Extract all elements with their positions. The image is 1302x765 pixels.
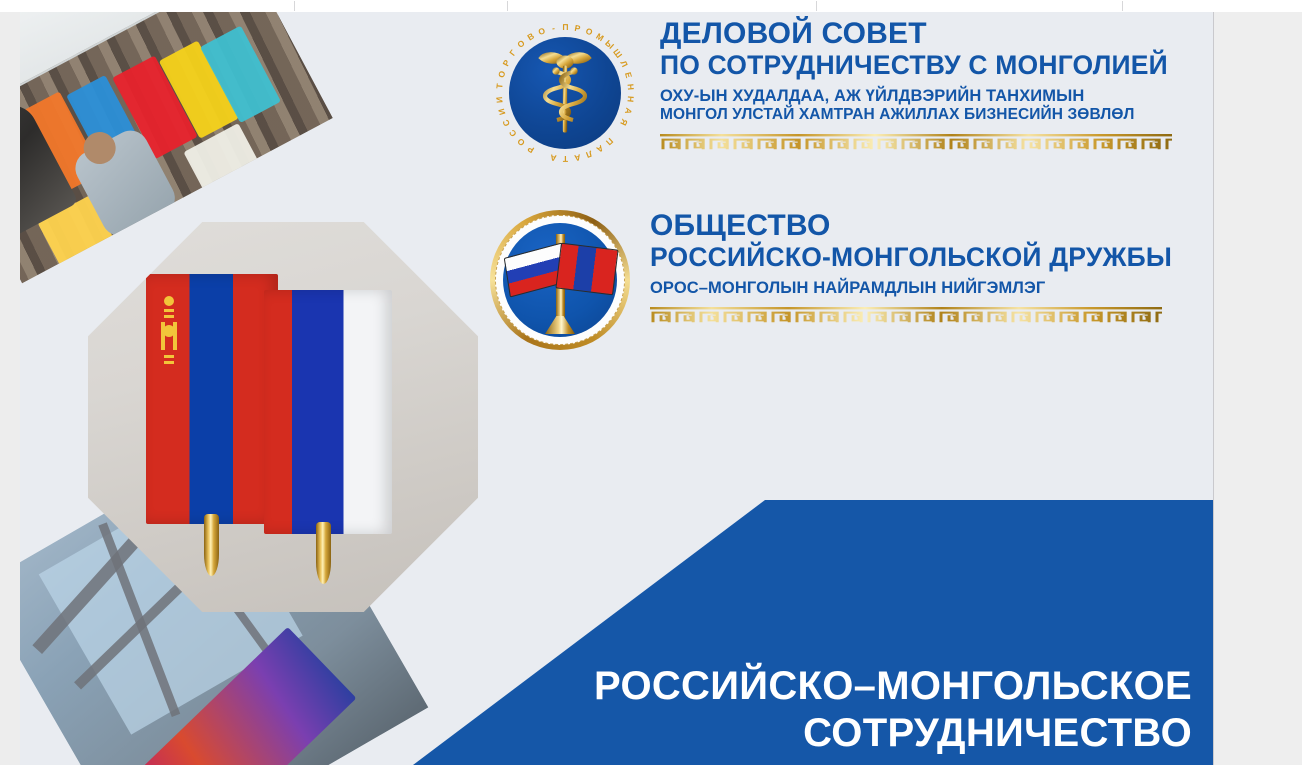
tab-separator (816, 1, 817, 11)
title-line-2: СОТРУДНИЧЕСТВО (594, 710, 1192, 757)
friendship-society-heading: ОБЩЕСТВО РОССИЙСКО-МОНГОЛЬСКОЙ ДРУЖБЫ ОР… (630, 210, 1190, 324)
crossed-flags-emblem-icon (490, 210, 630, 350)
canvas-left-gutter (0, 12, 20, 765)
chamber-of-commerce-logo-row: ТОРГОВО-ПРОМЫШЛЕННАЯПАЛАТАРОССИИ (490, 18, 1190, 168)
greek-key-ornament (660, 134, 1172, 151)
slide-title-banner: РОССИЙСКО–МОНГОЛЬСКОЕ СОТРУДНИЧЕСТВО (413, 500, 1213, 765)
slide-right-edge (1213, 12, 1214, 765)
organisation-logos-block: ТОРГОВО-ПРОМЫШЛЕННАЯПАЛАТАРОССИИ (490, 12, 1190, 350)
soyombo-symbol-icon (155, 289, 183, 373)
heading-line-2: РОССИЙСКО-МОНГОЛЬСКОЙ ДРУЖБЫ (650, 243, 1190, 272)
friendship-society-logo-row: ОБЩЕСТВО РОССИЙСКО-МОНГОЛЬСКОЙ ДРУЖБЫ ОР… (490, 210, 1190, 350)
caduceus-icon (537, 50, 593, 136)
greek-key-ornament (650, 307, 1162, 324)
tab-separator (507, 1, 508, 11)
heading-line-1: ДЕЛОВОЙ СОВЕТ (660, 18, 1190, 50)
mongolian-flag-icon (555, 243, 618, 296)
browser-tab-strip[interactable] (0, 0, 1302, 12)
heading-line-4: МОНГОЛ УЛСТАЙ ХАМТРАН АЖИЛЛАХ БИЗНЕСИЙН … (660, 106, 1190, 125)
heading-line-2: ПО СОТРУДНИЧЕСТВУ С МОНГОЛИЕЙ (660, 51, 1190, 80)
tab-separator (1122, 1, 1123, 11)
tab-separator (294, 1, 295, 11)
heading-line-3: ОРОС–МОНГОЛЫН НАЙРАМДЛЫН НИЙГЭМЛЭГ (650, 278, 1190, 298)
heading-line-1: ОБЩЕСТВО (650, 210, 1190, 242)
caduceus-emblem-icon: ТОРГОВО-ПРОМЫШЛЕННАЯПАЛАТАРОССИИ (490, 18, 640, 168)
chamber-of-commerce-heading: ДЕЛОВОЙ СОВЕТ ПО СОТРУДНИЧЕСТВУ С МОНГОЛ… (640, 18, 1190, 151)
heading-line-3: ОХУ-ЫН ХУДАЛДАА, АЖ ҮЙЛДВЭРИЙН ТАНХИМЫН (660, 86, 1190, 106)
title-line-1: РОССИЙСКО–МОНГОЛЬСКОЕ (594, 663, 1192, 710)
slide-surface[interactable]: E204 ТОВАРЫ ИЗ МОНГОЛИИ (20, 12, 1213, 765)
